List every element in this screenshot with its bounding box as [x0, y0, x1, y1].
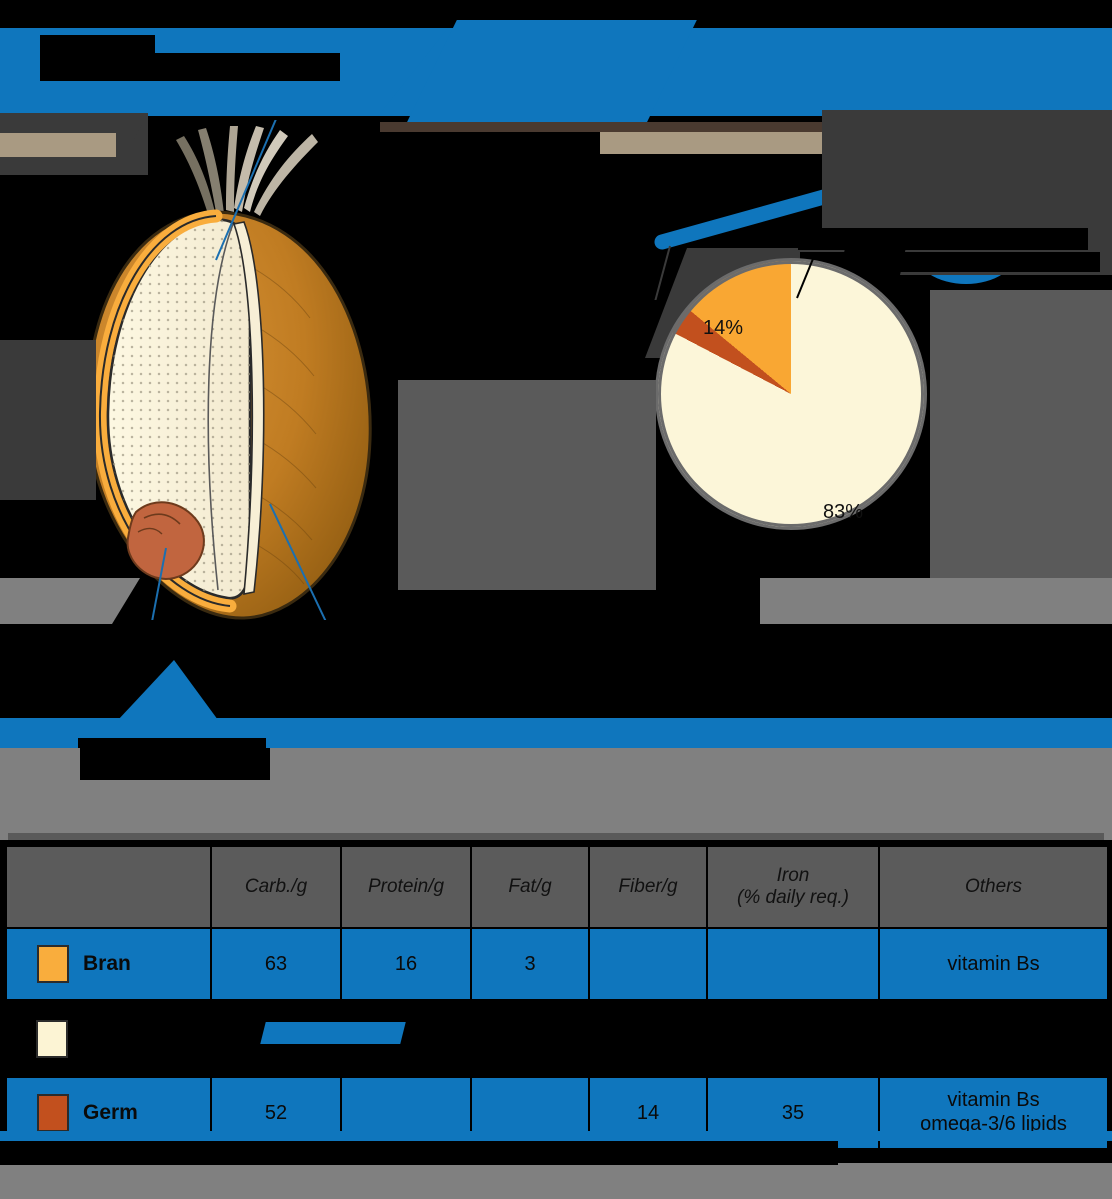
- cell-part-bran: Bran: [6, 928, 211, 1000]
- cell-part-endosperm: [6, 1000, 211, 1077]
- th-carb: Carb./g: [211, 846, 341, 928]
- pie-slice-label-bran: 14%: [703, 317, 743, 340]
- part-label-germ: Germ: [83, 1101, 138, 1124]
- redaction-block-scale-top: [822, 110, 1112, 246]
- redaction-block-endosperm-row: [260, 1022, 405, 1044]
- cell-bran-others: vitamin Bs: [879, 928, 1108, 1000]
- germ-slice-leader: [785, 230, 865, 300]
- wheat-grain-illustration: [58, 120, 388, 620]
- cell-endo-iron: [707, 1000, 879, 1077]
- brush-hairs-icon: [176, 126, 318, 216]
- kernel-composition-pie-chart: 83% 14%: [655, 258, 927, 530]
- table-header-row: Carb./g Protein/g Fat/g Fiber/g Iron (% …: [6, 846, 1108, 928]
- th-iron: Iron (% daily req.): [707, 846, 879, 928]
- redaction-block-footer-gray-right: [838, 1163, 1112, 1199]
- redaction-block-title-text-2: [40, 53, 340, 81]
- color-swatch-germ: [37, 1094, 69, 1132]
- th-others: Others: [879, 846, 1108, 928]
- th-iron-line2: (% daily req.): [737, 887, 849, 908]
- grain-svg: [58, 120, 388, 620]
- th-iron-line1: Iron: [777, 865, 810, 886]
- redaction-block-pie-right: [930, 290, 1112, 590]
- redaction-block-footer-band: [0, 1131, 1112, 1141]
- th-protein: Protein/g: [341, 846, 471, 928]
- table-row: Bran 63 16 3 vitamin Bs: [6, 928, 1108, 1000]
- infographic-canvas: 83% 14% Carb./g Protein/g Fat/g: [0, 0, 1112, 1199]
- cell-bran-carb: 63: [211, 928, 341, 1000]
- color-swatch-endosperm: [36, 1020, 68, 1058]
- table-row: [6, 1000, 1108, 1077]
- redaction-block-caption-germ-word: [80, 748, 270, 780]
- redaction-block-caption-rule: [8, 833, 1104, 840]
- cell-germ-others-line1: vitamin Bs: [947, 1089, 1039, 1111]
- cell-bran-protein: 16: [341, 928, 471, 1000]
- redaction-block-band-spike: [118, 660, 218, 720]
- nutrition-table-grid: Carb./g Protein/g Fat/g Fiber/g Iron (% …: [5, 845, 1109, 1150]
- part-label-bran: Bran: [83, 952, 131, 975]
- th-part: [6, 846, 211, 928]
- pie-slice-label-endosperm: 83%: [823, 501, 863, 524]
- redaction-block-label-bran-underline: [836, 606, 1106, 618]
- cell-endo-others: [879, 1000, 1108, 1077]
- cell-bran-fat: 3: [471, 928, 589, 1000]
- cell-bran-iron: [707, 928, 879, 1000]
- redaction-block-footer-text: [0, 1141, 838, 1165]
- nutrition-table: Carb./g Protein/g Fat/g Fiber/g Iron (% …: [5, 845, 1107, 1150]
- cell-endo-fiber: [589, 1000, 707, 1077]
- redaction-block-mid-left: [0, 340, 96, 500]
- cell-bran-fiber: [589, 928, 707, 1000]
- th-fat: Fat/g: [471, 846, 589, 928]
- redaction-block-pie-left: [398, 380, 656, 590]
- th-fiber: Fiber/g: [589, 846, 707, 928]
- cell-endo-fat: [471, 1000, 589, 1077]
- color-swatch-bran: [37, 945, 69, 983]
